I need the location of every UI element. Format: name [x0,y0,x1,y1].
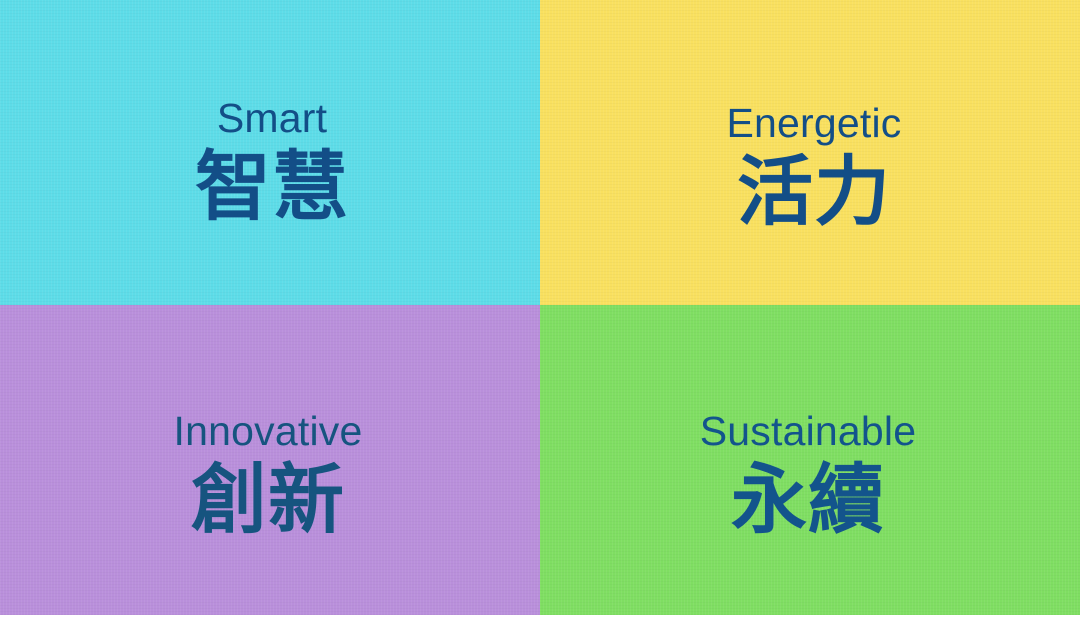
panel-smart[interactable]: Smart 智慧 [0,0,540,305]
panel-smart-content: Smart 智慧 [195,97,349,229]
panel-innovative-content: Innovative 創新 [174,410,363,542]
panel-innovative[interactable]: Innovative 創新 [0,305,540,615]
panel-innovative-label-zh: 創新 [174,457,363,542]
panel-energetic[interactable]: Energetic 活力 [540,0,1080,305]
panel-energetic-label-en: Energetic [726,102,901,145]
panel-energetic-label-zh: 活力 [726,149,901,234]
panel-sustainable-label-zh: 永續 [700,457,916,542]
panel-sustainable-label-en: Sustainable [700,410,916,453]
panel-energetic-content: Energetic 活力 [726,102,901,234]
panel-sustainable[interactable]: Sustainable 永續 [540,305,1080,615]
panel-innovative-label-en: Innovative [174,410,363,453]
panel-smart-label-zh: 智慧 [195,144,349,229]
panel-smart-label-en: Smart [195,97,349,140]
brand-values-poster: Smart 智慧 Energetic 活力 Innovative 創新 Sust… [0,0,1080,618]
panel-sustainable-content: Sustainable 永續 [700,410,916,542]
value-panel-grid: Smart 智慧 Energetic 活力 Innovative 創新 Sust… [0,0,1080,615]
